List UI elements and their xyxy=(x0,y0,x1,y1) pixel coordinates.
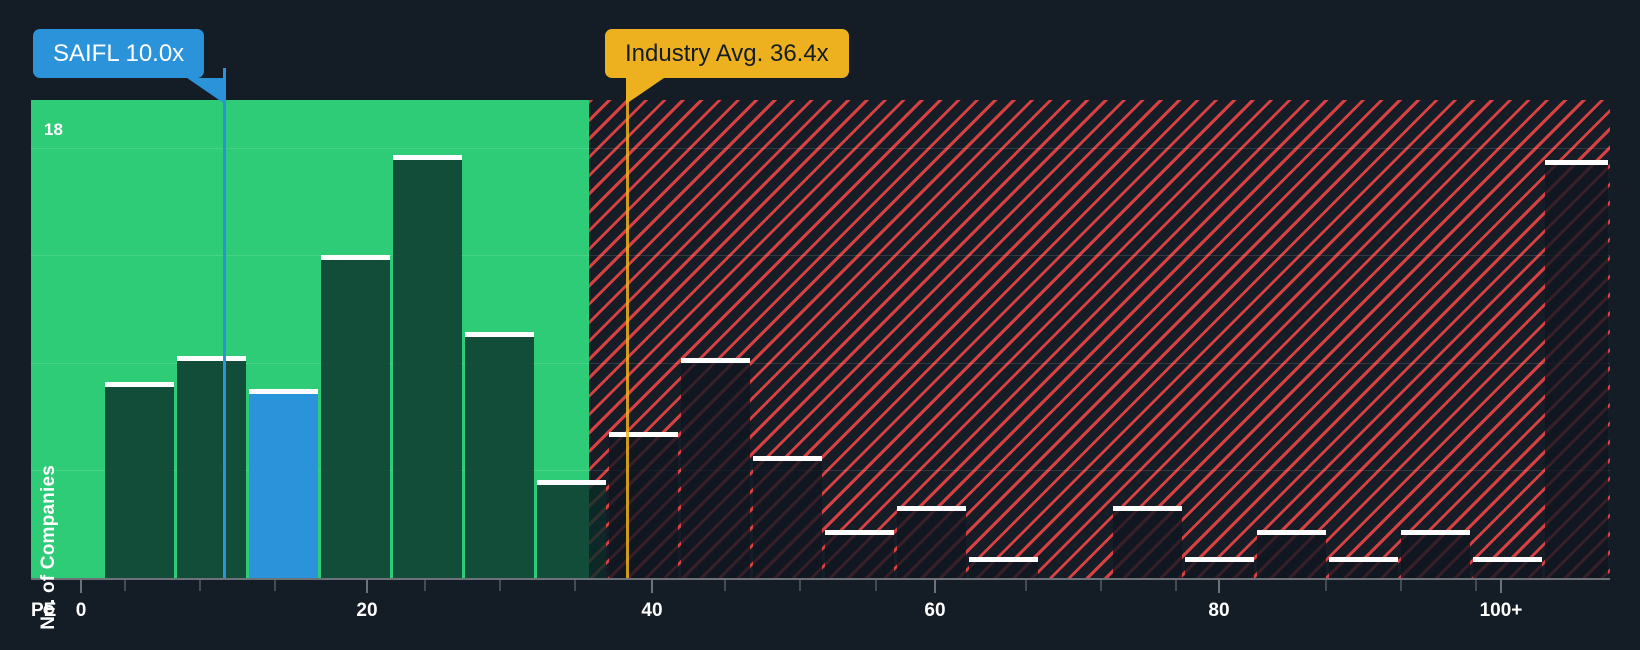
bar-cap xyxy=(1113,506,1182,511)
x-minor-tick-65 xyxy=(1025,580,1027,591)
bar-3[interactable] xyxy=(249,389,318,578)
x-minor-tick-10 xyxy=(199,580,201,591)
bar-body xyxy=(897,510,966,578)
bar-body xyxy=(609,436,678,578)
y-axis-max-value: 18 xyxy=(44,120,63,140)
bar-body xyxy=(105,386,174,578)
bar-cap xyxy=(1257,530,1326,535)
bar-cap xyxy=(249,389,318,394)
x-tick-20 xyxy=(366,580,368,593)
x-minor-tick-75 xyxy=(1175,580,1177,591)
bar-body xyxy=(393,159,462,578)
bar-cap xyxy=(1473,557,1542,562)
bar-cap xyxy=(753,456,822,461)
x-minor-tick-35 xyxy=(574,580,576,591)
bar-cap xyxy=(177,356,246,361)
bar-13[interactable] xyxy=(969,557,1038,579)
x-axis-line xyxy=(31,578,1610,580)
x-tick-80 xyxy=(1218,580,1220,593)
bar-cap xyxy=(897,506,966,511)
bar-body xyxy=(1113,510,1182,578)
bar-4[interactable] xyxy=(321,255,390,578)
x-minor-tick-30 xyxy=(499,580,501,591)
bar-7[interactable] xyxy=(537,480,606,578)
bar-1[interactable] xyxy=(105,382,174,578)
x-minor-tick-90 xyxy=(1400,580,1402,591)
x-minor-tick-25 xyxy=(424,580,426,591)
bar-21[interactable] xyxy=(1545,160,1608,578)
bar-20[interactable] xyxy=(1473,557,1542,579)
x-minor-tick-15 xyxy=(274,580,276,591)
bar-body xyxy=(177,360,246,578)
gridline-18 xyxy=(31,148,1610,149)
bar-cap xyxy=(537,480,606,485)
bar-9[interactable] xyxy=(681,358,750,578)
pe-distribution-chart: 18 No. of Companies PE 020406080100+ SAI… xyxy=(0,0,1640,650)
bar-body xyxy=(825,534,894,578)
bar-cap xyxy=(393,155,462,160)
bar-body xyxy=(465,336,534,578)
gridline-13.5 xyxy=(31,255,1610,256)
x-tick-0 xyxy=(80,580,82,593)
bar-5[interactable] xyxy=(393,155,462,578)
x-tick-label-20: 20 xyxy=(356,600,377,622)
x-minor-tick-55 xyxy=(875,580,877,591)
industry-callout[interactable]: Industry Avg. 36.4x xyxy=(605,29,849,78)
bar-cap xyxy=(681,358,750,363)
bar-cap xyxy=(1185,557,1254,562)
bar-16[interactable] xyxy=(1185,557,1254,579)
bar-body xyxy=(1329,561,1398,579)
x-tick-label-100+: 100+ xyxy=(1480,600,1523,622)
bar-19[interactable] xyxy=(1401,530,1470,578)
bar-6[interactable] xyxy=(465,332,534,578)
x-minor-tick-50 xyxy=(799,580,801,591)
bar-18[interactable] xyxy=(1329,557,1398,579)
company-callout[interactable]: SAIFL 10.0x xyxy=(33,29,204,78)
x-minor-tick-95 xyxy=(1475,580,1477,591)
plot-area xyxy=(31,100,1610,578)
x-minor-tick-85 xyxy=(1325,580,1327,591)
bar-cap xyxy=(105,382,174,387)
x-tick-100+ xyxy=(1500,580,1502,593)
bar-12[interactable] xyxy=(897,506,966,578)
bar-cap xyxy=(969,557,1038,562)
x-tick-40 xyxy=(651,580,653,593)
bar-cap xyxy=(1545,160,1608,165)
x-axis-prefix-label: PE xyxy=(31,600,56,622)
bar-body xyxy=(1473,561,1542,579)
industry-callout-tail xyxy=(626,78,664,104)
bar-cap xyxy=(465,332,534,337)
bar-cap xyxy=(825,530,894,535)
bar-body xyxy=(1257,534,1326,578)
bar-cap xyxy=(321,255,390,260)
bar-2[interactable] xyxy=(177,356,246,578)
x-tick-label-0: 0 xyxy=(76,600,87,622)
bar-15[interactable] xyxy=(1113,506,1182,578)
bar-body xyxy=(321,259,390,578)
bar-body xyxy=(249,393,318,578)
bar-body xyxy=(753,460,822,578)
x-tick-label-80: 80 xyxy=(1208,600,1229,622)
company-marker-line xyxy=(223,68,226,578)
x-tick-label-60: 60 xyxy=(924,600,945,622)
bar-body xyxy=(969,561,1038,579)
x-tick-60 xyxy=(934,580,936,593)
bar-17[interactable] xyxy=(1257,530,1326,578)
bar-10[interactable] xyxy=(753,456,822,578)
x-minor-tick-45 xyxy=(724,580,726,591)
x-tick-label-40: 40 xyxy=(641,600,662,622)
x-minor-tick-5 xyxy=(124,580,126,591)
bar-8[interactable] xyxy=(609,432,678,578)
bar-body xyxy=(1401,534,1470,578)
bar-body xyxy=(537,484,606,578)
company-callout-tail xyxy=(187,78,225,104)
bar-body xyxy=(1545,164,1608,578)
bar-11[interactable] xyxy=(825,530,894,578)
industry-marker-line xyxy=(626,68,629,578)
bar-cap xyxy=(609,432,678,437)
bar-body xyxy=(681,362,750,578)
x-minor-tick-70 xyxy=(1100,580,1102,591)
bar-cap xyxy=(1329,557,1398,562)
bar-cap xyxy=(1401,530,1470,535)
bar-body xyxy=(1185,561,1254,579)
gridline-9 xyxy=(31,363,1610,364)
